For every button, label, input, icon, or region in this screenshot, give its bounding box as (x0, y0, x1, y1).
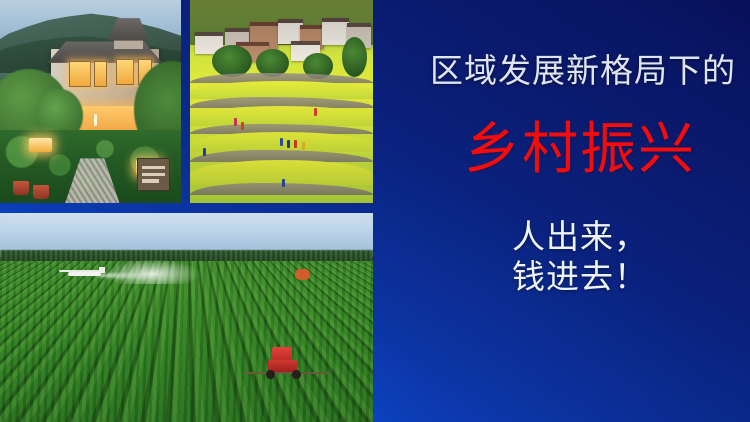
signboard-text-line (142, 166, 165, 169)
guesthouse-window (94, 61, 107, 87)
terrace-shading (190, 0, 373, 203)
guesthouse-garden-lamp (29, 138, 53, 152)
guesthouse-flower-pot (13, 181, 29, 195)
farm-vignette (0, 213, 373, 422)
photo-mechanized-farm (0, 213, 373, 422)
signboard-text-line (142, 173, 165, 176)
photo-terraced-fields (190, 0, 373, 203)
slide-title: 乡村振兴 (464, 118, 750, 180)
guesthouse-person (94, 114, 97, 126)
guesthouse-flower-pot (33, 185, 49, 199)
presentation-slide: 区域发展新格局下的 乡村振兴 人出来， 钱进去！ (0, 0, 750, 422)
signboard-text-line (142, 179, 159, 182)
slide-subtitle: 区域发展新格局下的 (430, 52, 730, 90)
slide-slogan-line-2: 钱进去！ (512, 258, 648, 296)
slide-text-block: 区域发展新格局下的 乡村振兴 人出来， 钱进去！ (378, 0, 750, 422)
guesthouse-window (69, 61, 91, 87)
slide-slogan-line-1: 人出来， (512, 218, 648, 256)
photo-guesthouse (0, 0, 181, 203)
guesthouse-window (116, 59, 134, 85)
guesthouse-signboard (137, 158, 170, 190)
